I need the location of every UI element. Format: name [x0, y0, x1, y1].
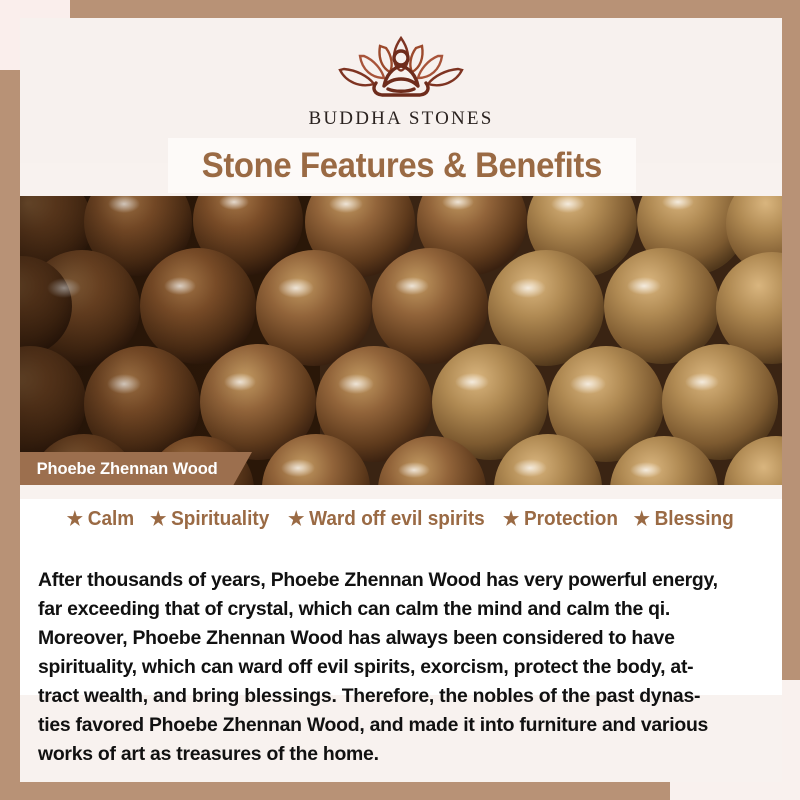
description-line: After thousands of years, Phoebe Zhennan…: [38, 566, 764, 595]
description-text: After thousands of years, Phoebe Zhennan…: [38, 566, 764, 769]
feature-item-protection: ★Protection: [503, 508, 618, 531]
title-banner: Stone Features & Benefits: [168, 138, 636, 193]
star-icon: ★: [634, 509, 650, 530]
lotus-meditation-figure-icon: [316, 26, 486, 106]
feature-item-calm: ★Calm: [67, 508, 134, 531]
description-line: works of art as treasures of the home.: [38, 740, 764, 769]
description-line: Moreover, Phoebe Zhennan Wood has always…: [38, 624, 764, 653]
feature-item-ward-off-evil-spirits: ★Ward off evil spirits: [288, 508, 485, 531]
wooden-beads-image: [20, 196, 782, 485]
description-line: tract wealth, and bring blessings. There…: [38, 682, 764, 711]
feature-item-spirituality: ★Spirituality: [150, 508, 269, 531]
description-line: spirituality, which can ward off evil sp…: [38, 653, 764, 682]
infographic-page: BUDDHA STONES Stone Features & Benefits: [0, 0, 800, 800]
feature-label: Calm: [88, 508, 134, 530]
feature-label: Ward off evil spirits: [309, 508, 485, 530]
star-icon: ★: [503, 509, 519, 530]
photo-caption-label: Phoebe Zhennan Wood: [23, 459, 218, 479]
description-line: far exceeding that of crystal, which can…: [38, 595, 764, 624]
feature-label: Spirituality: [171, 508, 269, 530]
star-icon: ★: [150, 509, 166, 530]
page-title: Stone Features & Benefits: [202, 146, 602, 186]
feature-keyword-list: ★Calm ★Spirituality ★Ward off evil spiri…: [20, 508, 782, 531]
product-photo: [20, 196, 782, 485]
brand-name: BUDDHA STONES: [308, 108, 493, 130]
feature-label: Blessing: [655, 508, 734, 530]
feature-item-blessing: ★Blessing: [634, 508, 734, 531]
star-icon: ★: [67, 509, 83, 530]
star-icon: ★: [288, 509, 304, 530]
feature-label: Protection: [524, 508, 618, 530]
panel-top-strip: [20, 485, 782, 499]
description-line: ties favored Phoebe Zhennan Wood, and ma…: [38, 711, 764, 740]
photo-caption-tag: Phoebe Zhennan Wood: [20, 452, 252, 485]
